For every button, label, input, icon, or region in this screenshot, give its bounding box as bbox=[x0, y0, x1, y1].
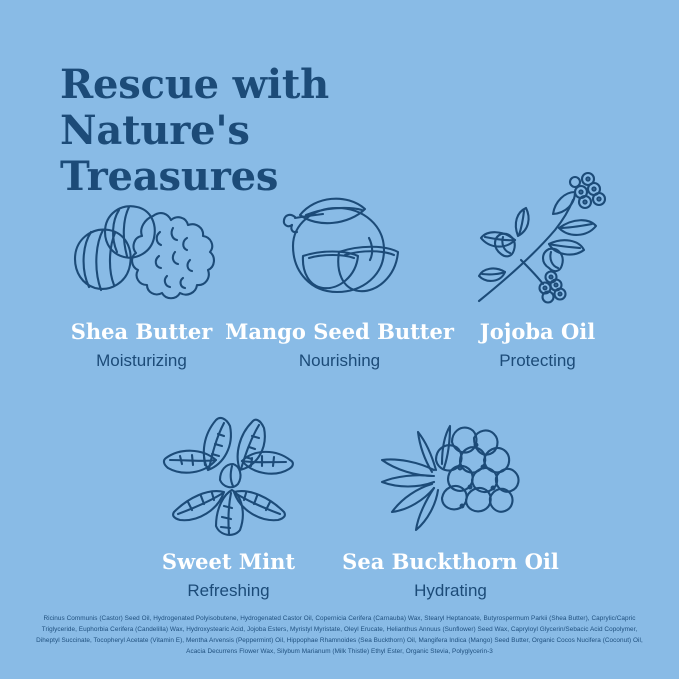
ingredient-list-fineprint: Ricinus Communis (Castor) Seed Oil, Hydr… bbox=[36, 613, 643, 657]
ingredient-name: Sweet Mint bbox=[162, 550, 295, 573]
ingredient-name: Shea Butter bbox=[71, 320, 213, 343]
ingredient-card-sweet-mint: Sweet Mint Refreshing bbox=[131, 398, 327, 601]
ingredient-benefit: Hydrating bbox=[414, 582, 487, 601]
ingredient-card-jojoba-oil: Jojoba Oil Protecting bbox=[440, 168, 636, 371]
ingredient-card-sea-buckthorn-oil: Sea Buckthorn Oil Hydrating bbox=[353, 398, 549, 601]
ingredient-row-bottom: Sweet Mint Refreshing bbox=[0, 398, 679, 601]
ingredient-benefit: Protecting bbox=[499, 352, 576, 371]
ingredient-benefit: Nourishing bbox=[299, 352, 380, 371]
ingredient-row-top: Shea Butter Moisturizing bbox=[0, 168, 679, 371]
ingredient-benefit: Moisturizing bbox=[96, 352, 187, 371]
sea-buckthorn-icon bbox=[371, 398, 531, 538]
ingredient-name: Mango Seed Butter bbox=[225, 320, 454, 343]
ingredient-card-mango-seed-butter: Mango Seed Butter Nourishing bbox=[242, 168, 438, 371]
ingredient-card-shea-butter: Shea Butter Moisturizing bbox=[44, 168, 240, 371]
shea-nut-icon bbox=[62, 168, 222, 308]
jojoba-branch-icon bbox=[458, 168, 618, 308]
mango-fruit-icon bbox=[260, 168, 420, 308]
ingredient-name: Sea Buckthorn Oil bbox=[342, 550, 559, 573]
ingredient-name: Jojoba Oil bbox=[480, 320, 595, 343]
ingredient-benefit: Refreshing bbox=[187, 582, 269, 601]
ingredient-poster: Rescue with Nature's Treasures bbox=[0, 0, 679, 679]
mint-leaves-icon bbox=[149, 398, 309, 538]
